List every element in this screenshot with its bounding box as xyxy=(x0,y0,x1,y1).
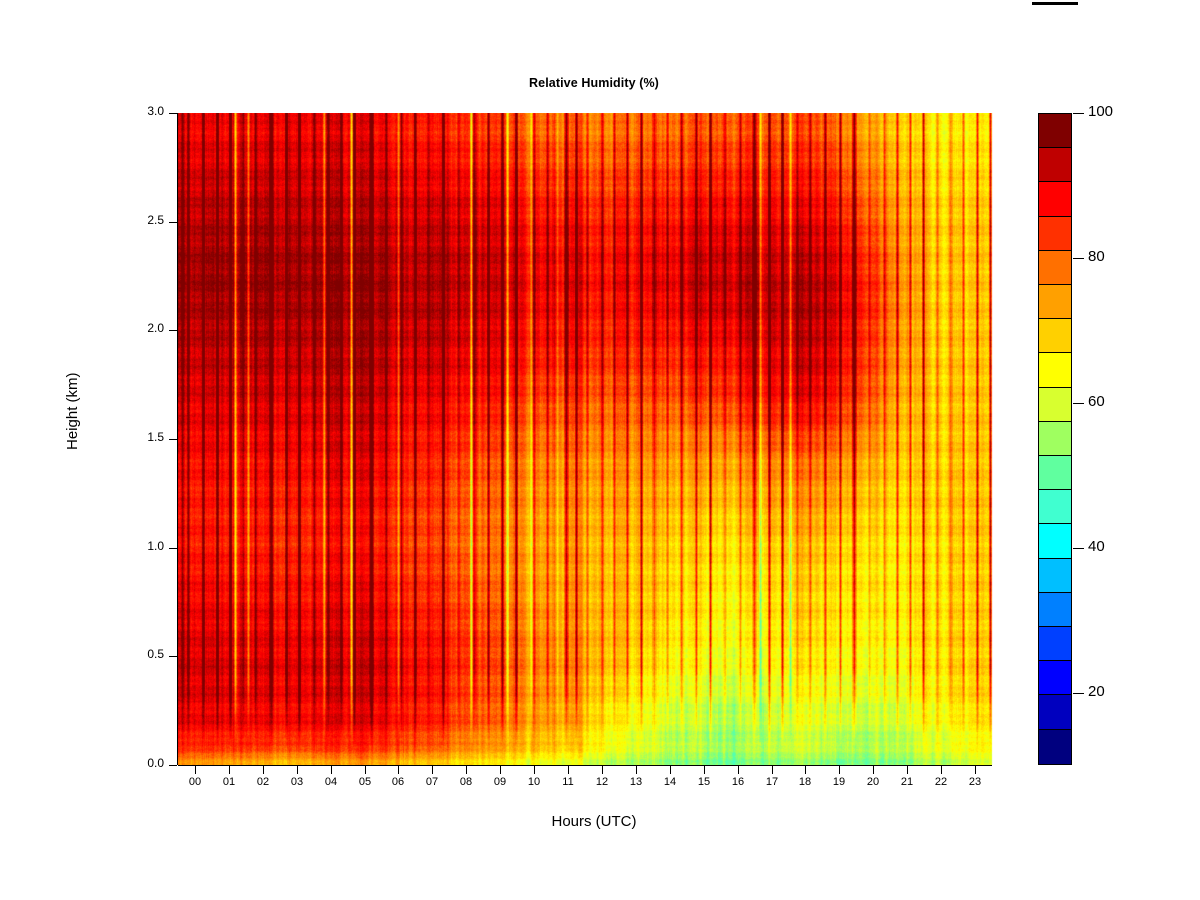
x-tick-label: 07 xyxy=(418,776,446,788)
x-axis-label: Hours (UTC) xyxy=(178,813,1010,830)
colorbar-swatch xyxy=(1039,114,1071,148)
y-tick xyxy=(169,439,177,440)
colorbar-swatch xyxy=(1039,353,1071,387)
top-right-artifact-bar xyxy=(1032,2,1078,5)
colorbar-tick xyxy=(1073,258,1084,259)
x-tick xyxy=(229,766,230,774)
y-tick-label: 0.0 xyxy=(122,756,164,770)
x-tick-label: 02 xyxy=(249,776,277,788)
x-tick-label: 22 xyxy=(927,776,955,788)
x-tick xyxy=(805,766,806,774)
colorbar-swatch xyxy=(1039,182,1071,216)
colorbar-swatch xyxy=(1039,388,1071,422)
x-tick-label: 10 xyxy=(520,776,548,788)
chart-page: Relative Humidity (%) 0.00.51.01.52.02.5… xyxy=(0,0,1200,900)
x-tick xyxy=(873,766,874,774)
y-tick-label: 1.5 xyxy=(122,430,164,444)
y-tick xyxy=(169,548,177,549)
colorbar-tick-label: 100 xyxy=(1088,103,1113,120)
x-tick xyxy=(466,766,467,774)
colorbar-tick-label: 80 xyxy=(1088,248,1105,265)
x-tick-label: 09 xyxy=(486,776,514,788)
colorbar-tick xyxy=(1073,693,1084,694)
y-tick-label: 2.0 xyxy=(122,321,164,335)
x-tick xyxy=(602,766,603,774)
colorbar-swatch xyxy=(1039,422,1071,456)
x-tick xyxy=(568,766,569,774)
colorbar-tick xyxy=(1073,403,1084,404)
colorbar-swatch xyxy=(1039,695,1071,729)
colorbar-swatch xyxy=(1039,251,1071,285)
x-tick xyxy=(534,766,535,774)
x-tick-label: 15 xyxy=(690,776,718,788)
colorbar-tick-label: 60 xyxy=(1088,393,1105,410)
colorbar-swatch xyxy=(1039,456,1071,490)
colorbar-swatch xyxy=(1039,730,1071,764)
y-tick xyxy=(169,330,177,331)
x-tick-label: 08 xyxy=(452,776,480,788)
x-tick xyxy=(500,766,501,774)
y-tick xyxy=(169,222,177,223)
heatmap-plot-area xyxy=(178,113,1010,765)
colorbar-tick-label: 40 xyxy=(1088,538,1105,555)
colorbar-swatch xyxy=(1039,148,1071,182)
x-tick xyxy=(263,766,264,774)
x-tick xyxy=(398,766,399,774)
y-axis-label: Height (km) xyxy=(64,372,81,450)
x-tick-label: 17 xyxy=(758,776,786,788)
y-tick xyxy=(169,656,177,657)
x-tick-label: 16 xyxy=(724,776,752,788)
x-tick-label: 23 xyxy=(961,776,989,788)
x-tick xyxy=(772,766,773,774)
x-tick xyxy=(636,766,637,774)
x-tick-label: 01 xyxy=(215,776,243,788)
x-tick-label: 21 xyxy=(893,776,921,788)
x-tick-label: 12 xyxy=(588,776,616,788)
colorbar-swatch xyxy=(1039,490,1071,524)
colorbar-swatch xyxy=(1039,661,1071,695)
x-tick-label: 11 xyxy=(554,776,582,788)
x-tick xyxy=(941,766,942,774)
colorbar xyxy=(1038,113,1072,765)
y-axis-line xyxy=(177,113,178,765)
x-tick xyxy=(839,766,840,774)
x-tick-label: 05 xyxy=(351,776,379,788)
colorbar-swatch xyxy=(1039,593,1071,627)
colorbar-tick xyxy=(1073,113,1084,114)
x-tick xyxy=(365,766,366,774)
x-tick xyxy=(738,766,739,774)
x-tick-label: 04 xyxy=(317,776,345,788)
x-tick-label: 13 xyxy=(622,776,650,788)
heatmap-canvas xyxy=(178,113,1010,765)
colorbar-swatch xyxy=(1039,524,1071,558)
x-axis-line xyxy=(178,765,992,766)
colorbar-tick xyxy=(1073,548,1084,549)
colorbar-swatch xyxy=(1039,217,1071,251)
y-tick xyxy=(169,113,177,114)
y-tick-label: 0.5 xyxy=(122,647,164,661)
x-tick-label: 20 xyxy=(859,776,887,788)
x-tick-label: 03 xyxy=(283,776,311,788)
y-tick-label: 3.0 xyxy=(122,104,164,118)
x-tick xyxy=(975,766,976,774)
x-tick xyxy=(331,766,332,774)
y-tick xyxy=(169,765,177,766)
y-tick-label: 2.5 xyxy=(122,213,164,227)
x-tick xyxy=(704,766,705,774)
colorbar-tick-label: 20 xyxy=(1088,683,1105,700)
x-tick-label: 18 xyxy=(791,776,819,788)
x-tick-label: 06 xyxy=(384,776,412,788)
x-tick xyxy=(297,766,298,774)
x-tick xyxy=(195,766,196,774)
colorbar-swatch xyxy=(1039,285,1071,319)
x-tick-label: 19 xyxy=(825,776,853,788)
chart-title: Relative Humidity (%) xyxy=(178,76,1010,90)
x-tick xyxy=(670,766,671,774)
x-tick xyxy=(907,766,908,774)
x-tick-label: 14 xyxy=(656,776,684,788)
x-tick xyxy=(432,766,433,774)
x-tick-label: 00 xyxy=(181,776,209,788)
colorbar-swatch xyxy=(1039,559,1071,593)
colorbar-swatch xyxy=(1039,319,1071,353)
y-tick-label: 1.0 xyxy=(122,539,164,553)
colorbar-swatch xyxy=(1039,627,1071,661)
